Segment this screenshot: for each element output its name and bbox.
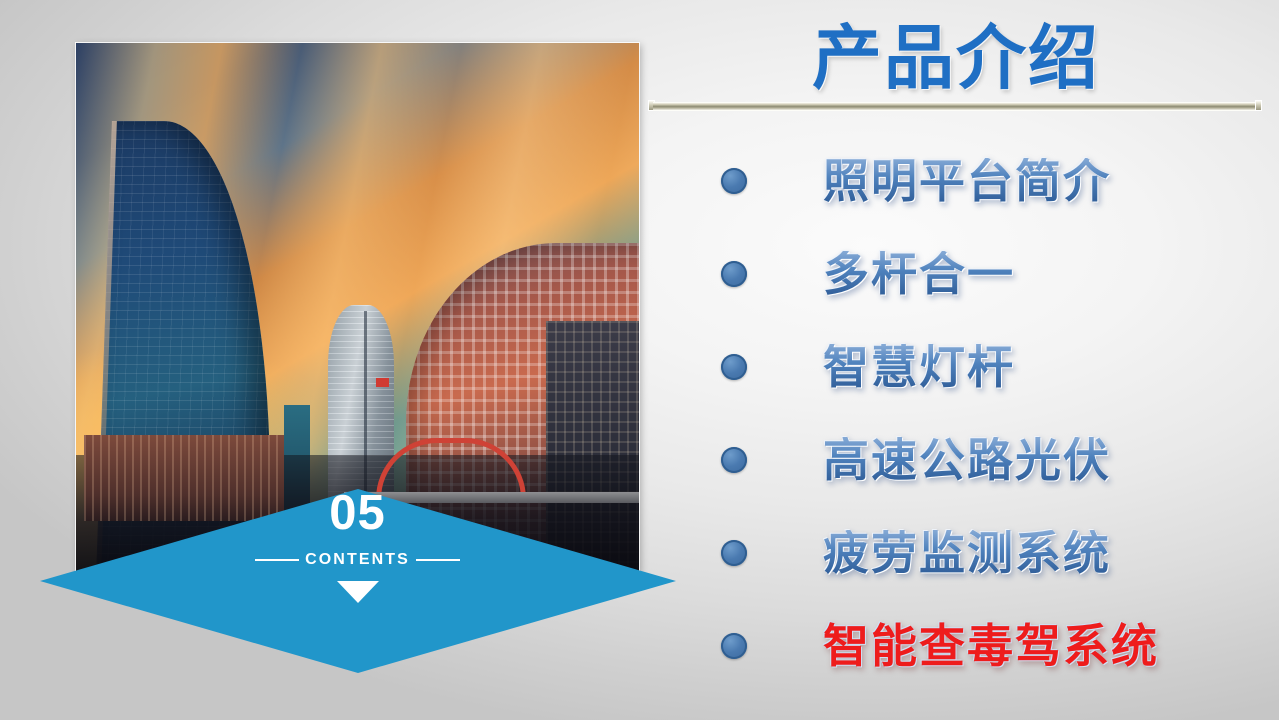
rule-left: [255, 559, 299, 561]
presentation-slide: 05 CONTENTS 产品介绍 照明平台简介 多杆合一 智慧灯杆 高速公路光: [0, 0, 1279, 720]
list-item[interactable]: 疲劳监测系统: [648, 506, 1268, 599]
page-title: 产品介绍: [648, 2, 1264, 103]
list-item-label: 智能查毒驾系统: [823, 623, 1159, 669]
contents-badge-content: 05 CONTENTS: [76, 489, 639, 603]
bullet-circle-icon: [721, 354, 747, 380]
list-item-highlight[interactable]: 智能查毒驾系统: [648, 599, 1268, 692]
list-item[interactable]: 照明平台简介: [648, 134, 1268, 227]
list-item-label: 高速公路光伏: [823, 437, 1111, 483]
list-item-label: 疲劳监测系统: [823, 530, 1111, 576]
rule-right: [416, 559, 460, 561]
bullet-circle-icon: [721, 633, 747, 659]
list-item-label: 多杆合一: [823, 251, 1015, 297]
tower-accent-marker: [376, 378, 389, 387]
list-item-label: 智慧灯杆: [823, 344, 1015, 390]
bullet-circle-icon: [721, 168, 747, 194]
title-divider: [648, 100, 1262, 111]
list-item[interactable]: 智慧灯杆: [648, 320, 1268, 413]
section-number: 05: [76, 489, 639, 538]
caret-down-icon: [337, 581, 379, 603]
contents-label: CONTENTS: [305, 551, 410, 569]
bullet-circle-icon: [721, 540, 747, 566]
list-item[interactable]: 高速公路光伏: [648, 413, 1268, 506]
bullet-circle-icon: [721, 261, 747, 287]
list-item[interactable]: 多杆合一: [648, 227, 1268, 320]
list-item-label: 照明平台简介: [823, 158, 1111, 204]
divider-bar: [653, 102, 1257, 111]
agenda-list: 照明平台简介 多杆合一 智慧灯杆 高速公路光伏 疲劳监测系统 智能查毒驾系统: [648, 134, 1268, 692]
contents-label-row: CONTENTS: [76, 551, 639, 569]
divider-cap-right: [1255, 100, 1262, 111]
bullet-circle-icon: [721, 447, 747, 473]
